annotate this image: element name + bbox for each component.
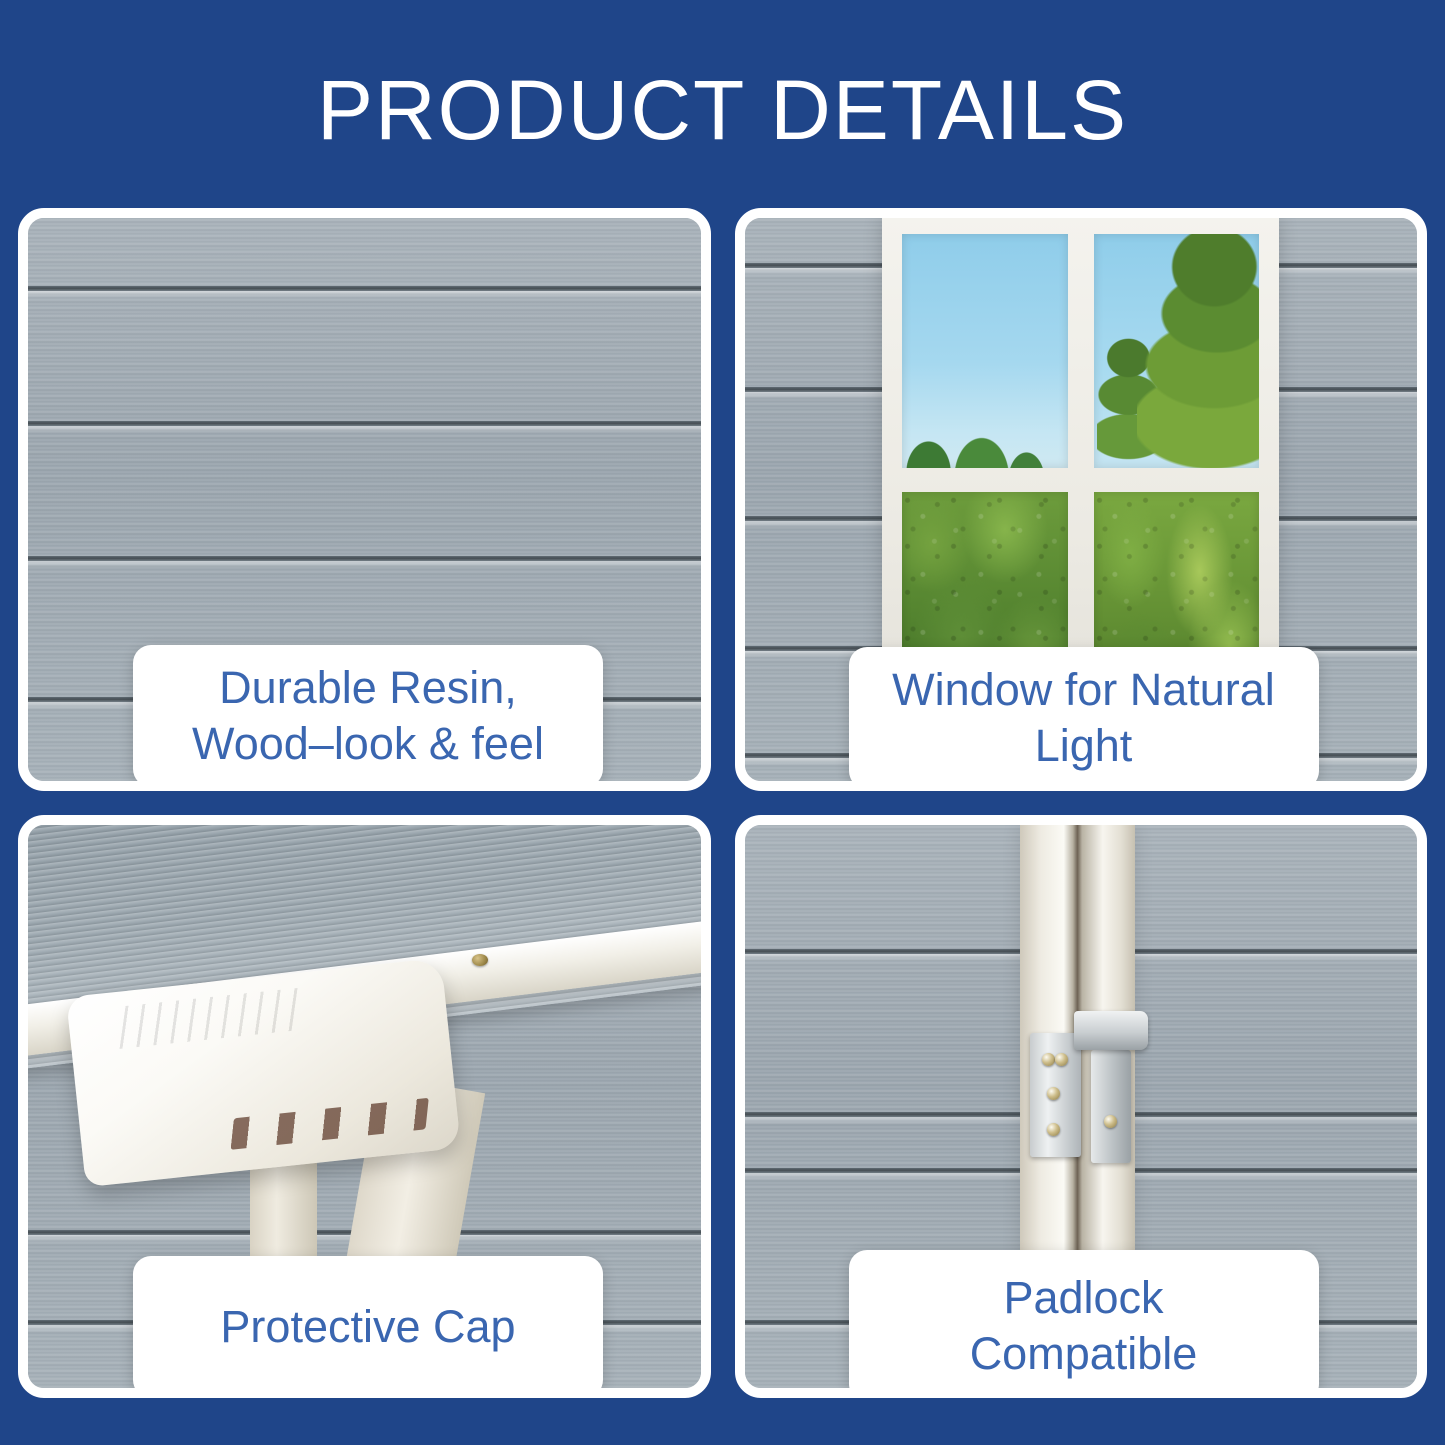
page-title: PRODUCT DETAILS: [0, 62, 1445, 158]
window-pane-top-left: [902, 234, 1067, 467]
window-pane-top-right: [1094, 234, 1259, 467]
panel-caption-padlock: Padlock Compatible: [849, 1250, 1319, 1398]
hasp-staple: [1091, 1050, 1131, 1163]
screw-icon: [1104, 1115, 1117, 1128]
siding-seam: [28, 286, 701, 291]
feature-panel-durable-resin[interactable]: Durable Resin, Wood–look & feel: [18, 208, 711, 791]
siding-seam: [28, 421, 701, 426]
cap-ribs: [119, 988, 297, 1049]
product-details-infographic: PRODUCT DETAILS Durable Resin, Wood–look…: [0, 0, 1445, 1445]
feature-panel-padlock[interactable]: Padlock Compatible: [735, 815, 1428, 1398]
screw-icon: [1055, 1053, 1068, 1066]
feature-panel-protective-cap[interactable]: Protective Cap: [18, 815, 711, 1398]
siding-seam: [28, 556, 701, 561]
distant-treeline: [902, 416, 1067, 467]
panel-caption-window: Window for Natural Light: [849, 647, 1319, 789]
panel-caption-durable-resin: Durable Resin, Wood–look & feel: [133, 645, 603, 787]
conifer-tree-large: [1137, 234, 1259, 467]
screw-icon: [1047, 1087, 1060, 1100]
feature-panel-window[interactable]: Window for Natural Light: [735, 208, 1428, 791]
feature-panel-grid: Durable Resin, Wood–look & feel: [18, 208, 1427, 1398]
panel-caption-protective-cap: Protective Cap: [133, 1256, 603, 1398]
protective-cap: [66, 958, 461, 1188]
hasp-latch-arm: [1074, 1011, 1148, 1050]
cap-vent-slots: [230, 1098, 428, 1150]
